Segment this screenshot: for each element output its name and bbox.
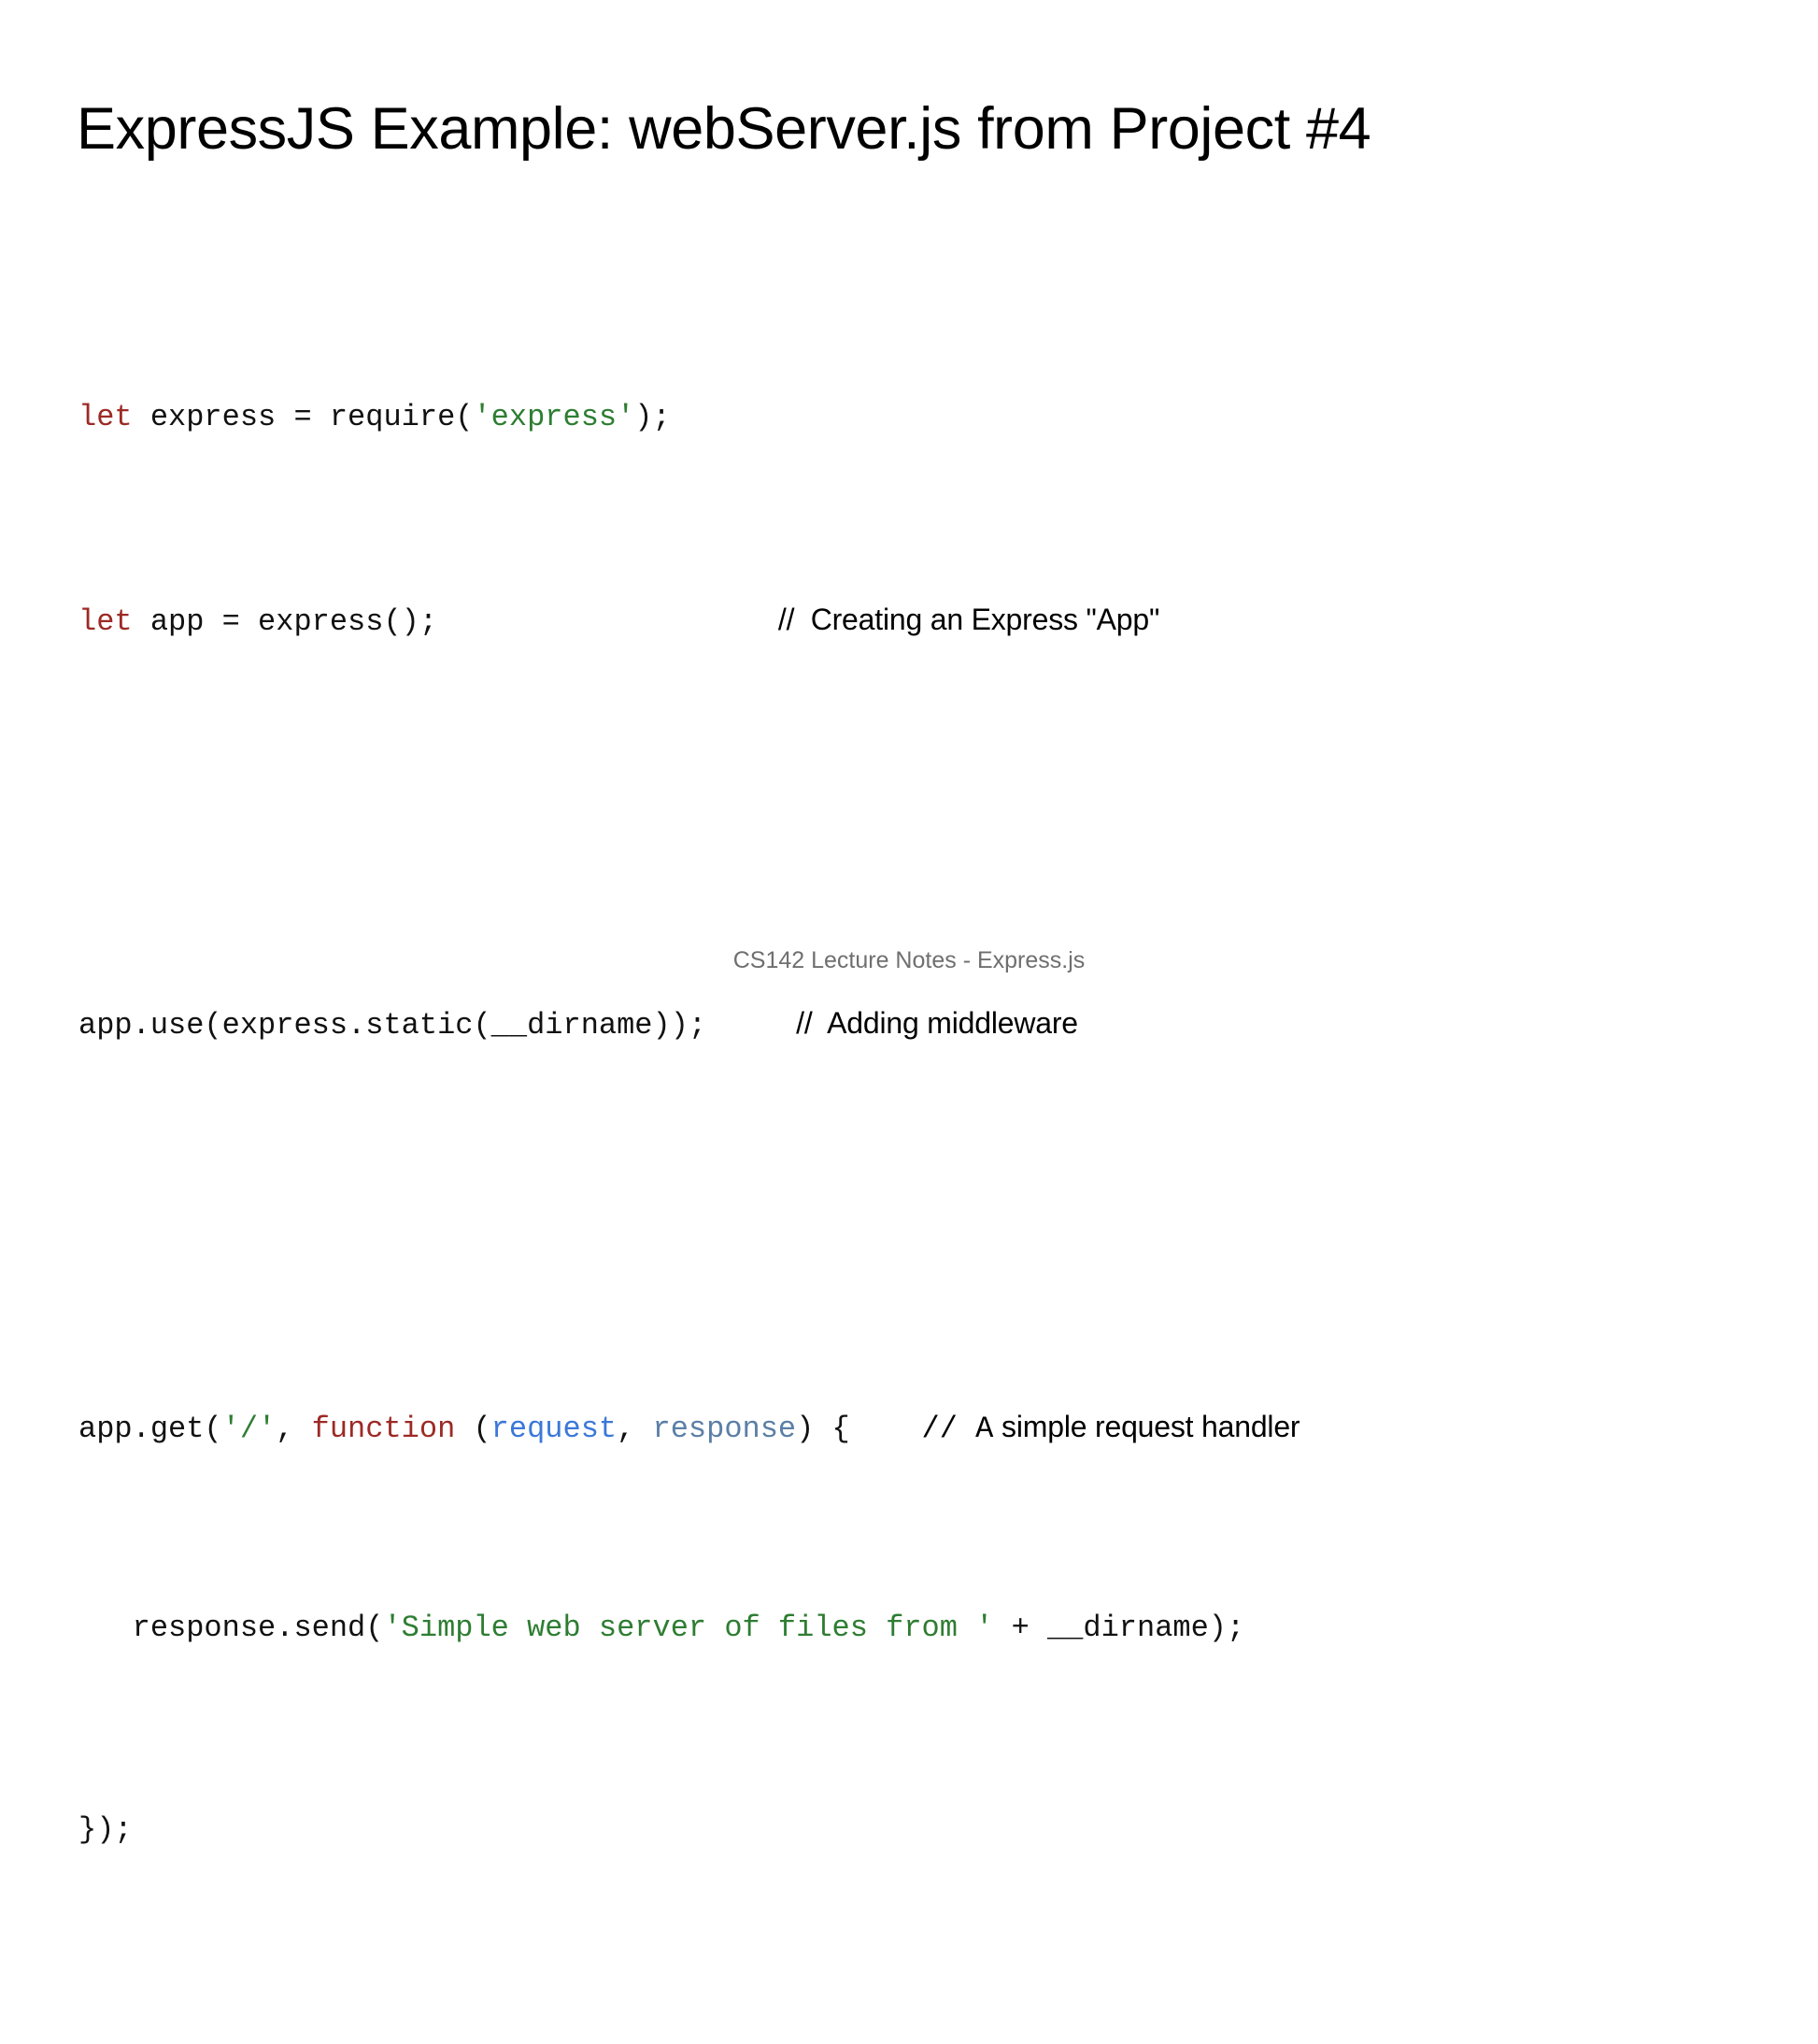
code-text: express = require( — [133, 400, 474, 434]
code-blank-line — [78, 2007, 1751, 2044]
indent — [78, 1611, 133, 1645]
code-line-middleware: app.use(express.static(__dirname)); // A… — [78, 998, 1751, 1048]
code-text: , — [276, 1412, 311, 1446]
code-line-require: let express = require('express'); — [78, 392, 1751, 443]
comment-marker: // A — [922, 1412, 994, 1446]
code-listing: let express = require('express'); let ap… — [78, 241, 1751, 2044]
comment-marker: // — [778, 603, 811, 636]
code-text: response.send( — [133, 1611, 384, 1645]
code-line-app-get: app.get('/', function (request, response… — [78, 1401, 1751, 1452]
string-route-path: '/' — [222, 1412, 277, 1446]
code-text: , — [617, 1412, 652, 1446]
spacer — [437, 604, 778, 639]
keyword-let: let — [78, 604, 133, 639]
code-line-response-send: response.send('Simple web server of file… — [78, 1603, 1751, 1654]
code-text: app = express(); — [133, 604, 437, 639]
code-text: ) { — [796, 1412, 850, 1446]
keyword-let: let — [78, 400, 133, 434]
keyword-function: function — [312, 1412, 456, 1446]
slide: ExpressJS Example: webServer.js from Pro… — [0, 0, 1818, 1022]
code-blank-line — [78, 1199, 1751, 1250]
comment-adding-middleware: Adding middleware — [827, 1006, 1078, 1040]
comment-marker: // — [796, 1006, 827, 1040]
code-line-close-get: }); — [78, 1805, 1751, 1855]
string-express: 'express' — [473, 400, 634, 434]
param-response: response — [653, 1412, 797, 1446]
string-simple-web-server: 'Simple web server of files from ' — [383, 1611, 993, 1645]
code-text: app.use(express.static(__dirname)); — [78, 1008, 706, 1043]
comment-creating-app: Creating an Express "App" — [811, 603, 1159, 636]
code-line-app-init: let app = express(); // Creating an Expr… — [78, 594, 1751, 645]
comment-request-handler: simple request handler — [993, 1410, 1300, 1443]
spacer — [850, 1412, 922, 1446]
param-request: request — [491, 1412, 617, 1446]
code-text: ( — [455, 1412, 490, 1446]
code-text: app.get( — [78, 1412, 222, 1446]
slide-footer: CS142 Lecture Notes - Express.js — [0, 947, 1818, 974]
code-text: + __dirname); — [993, 1611, 1244, 1645]
page-title: ExpressJS Example: webServer.js from Pro… — [77, 96, 1371, 163]
code-blank-line — [78, 796, 1751, 846]
spacer — [706, 1008, 796, 1043]
code-text: }); — [78, 1812, 133, 1847]
code-text: ); — [634, 400, 670, 434]
